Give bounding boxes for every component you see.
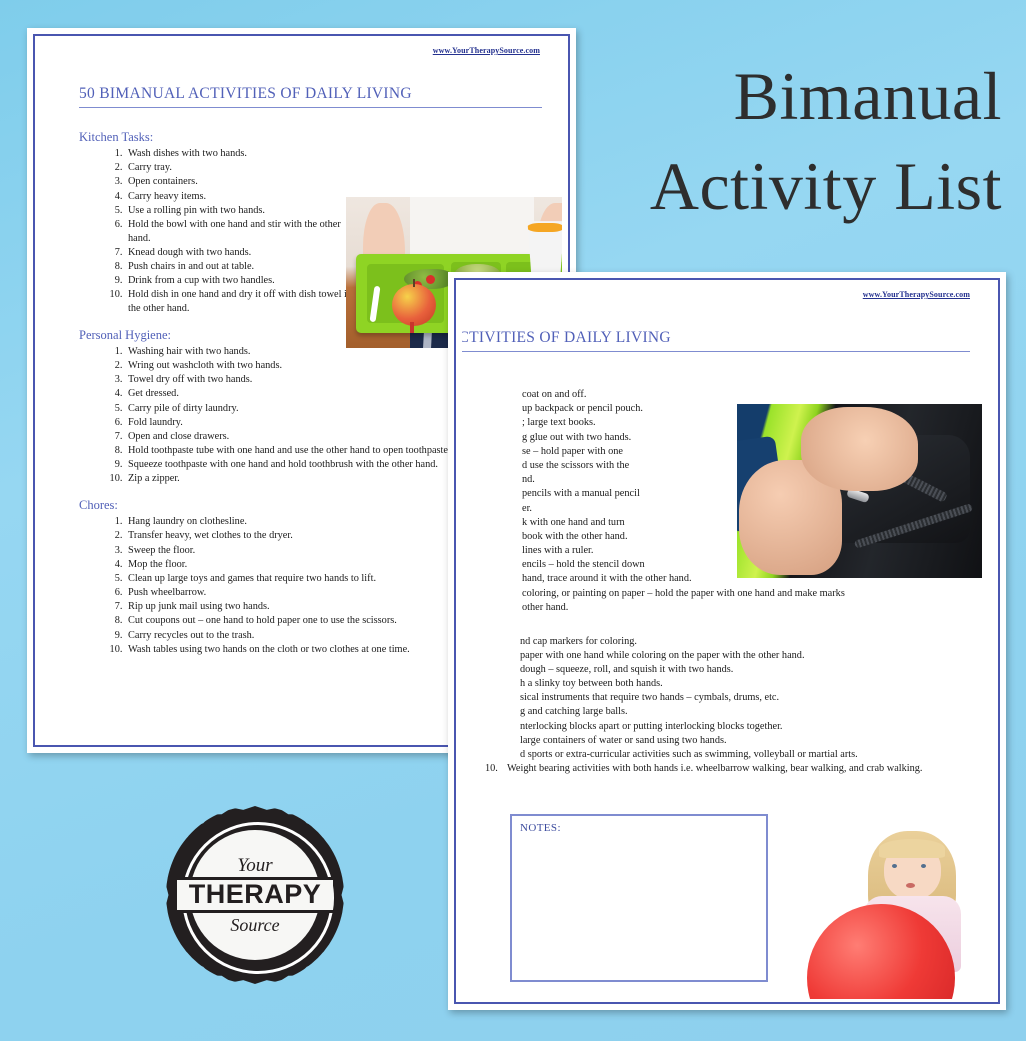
cover-title-line-1: Bimanual [602, 52, 1002, 142]
zipper-backpack-photo [737, 404, 982, 578]
document-page-two: www.YourTherapySource.com NUAL ACTIVITIE… [448, 272, 1006, 1010]
list-item: Knead dough with two hands. [125, 246, 363, 260]
list-item: Push chairs in and out at table. [125, 260, 363, 274]
list-item: Hold the bowl with one hand and stir wit… [125, 218, 363, 245]
list-item: paper with one hand while coloring on th… [517, 649, 947, 663]
list-item: Wash tables using two hands on the cloth… [125, 643, 445, 657]
list-item: Open containers. [125, 175, 363, 189]
list-play-tasks: nd cap markers for coloring. paper with … [462, 635, 947, 762]
list-item: Drink from a cup with two handles. [125, 274, 363, 288]
badge-core: Your THERAPY Source [190, 830, 320, 960]
list-item: nterlocking blocks apart or putting inte… [517, 720, 947, 734]
list-item: Wash dishes with two hands. [125, 147, 363, 161]
notes-label: NOTES: [520, 822, 766, 834]
list-item: Mop the floor. [125, 558, 445, 572]
list-item: g and catching large balls. [517, 705, 947, 719]
site-url-link-page-one[interactable]: www.YourTherapySource.com [41, 46, 540, 55]
cover-title: Bimanual Activity List [602, 52, 1002, 232]
page-two-content: www.YourTherapySource.com NUAL ACTIVITIE… [462, 284, 992, 999]
list-item: Carry tray. [125, 161, 363, 175]
last-item-number: 10. [485, 762, 507, 776]
section-heading-kitchen: Kitchen Tasks: [79, 130, 562, 145]
page-two-title: NUAL ACTIVITIES OF DAILY LIVING [462, 329, 970, 352]
girl-red-ball-photo [789, 820, 992, 999]
list-item: coat on and off. [519, 388, 919, 402]
logo-word-source: Source [230, 916, 279, 934]
list-chores: Hang laundry on clothesline. Transfer he… [79, 515, 445, 656]
list-item: Clean up large toys and games that requi… [125, 572, 445, 586]
list-item: sical instruments that require two hands… [517, 691, 947, 705]
list-item: nd cap markers for coloring. [517, 635, 947, 649]
logo-word-your: Your [237, 856, 272, 875]
list-item: large containers of water or sand using … [517, 734, 947, 748]
list-item: h a slinky toy between both hands. [517, 677, 947, 691]
list-item: Cut coupons out – one hand to hold paper… [125, 614, 445, 628]
logo-word-therapy: THERAPY [177, 877, 333, 913]
list-item: d sports or extra-curricular activities … [517, 748, 947, 762]
list-item: Carry heavy items. [125, 190, 363, 204]
last-item-text: Weight bearing activities with both hand… [507, 762, 923, 776]
your-therapy-source-logo[interactable]: Your THERAPY Source [166, 806, 344, 984]
list-item: Carry recycles out to the trash. [125, 629, 445, 643]
list-item: Sweep the floor. [125, 544, 445, 558]
list-item: Hang laundry on clothesline. [125, 515, 445, 529]
list-kitchen-tasks: Wash dishes with two hands. Carry tray. … [79, 147, 363, 316]
list-item: Use a rolling pin with two hands. [125, 204, 363, 218]
site-url-link-page-two[interactable]: www.YourTherapySource.com [462, 290, 970, 299]
list-item: Transfer heavy, wet clothes to the dryer… [125, 529, 445, 543]
list-item: other hand. [519, 601, 919, 615]
list-item: dough – squeeze, roll, and squish it wit… [517, 663, 947, 677]
page-one-title: 50 BIMANUAL ACTIVITIES OF DAILY LIVING [79, 85, 542, 108]
list-item: coloring, or painting on paper – hold th… [519, 587, 919, 601]
section-play-tasks: nd cap markers for coloring. paper with … [462, 635, 992, 776]
notes-box[interactable]: NOTES: [510, 814, 768, 982]
list-item: Hold dish in one hand and dry it off wit… [125, 288, 363, 315]
cover-title-line-2: Activity List [602, 142, 1002, 232]
list-item: Rip up junk mail using two hands. [125, 600, 445, 614]
list-item: Push wheelbarrow. [125, 586, 445, 600]
